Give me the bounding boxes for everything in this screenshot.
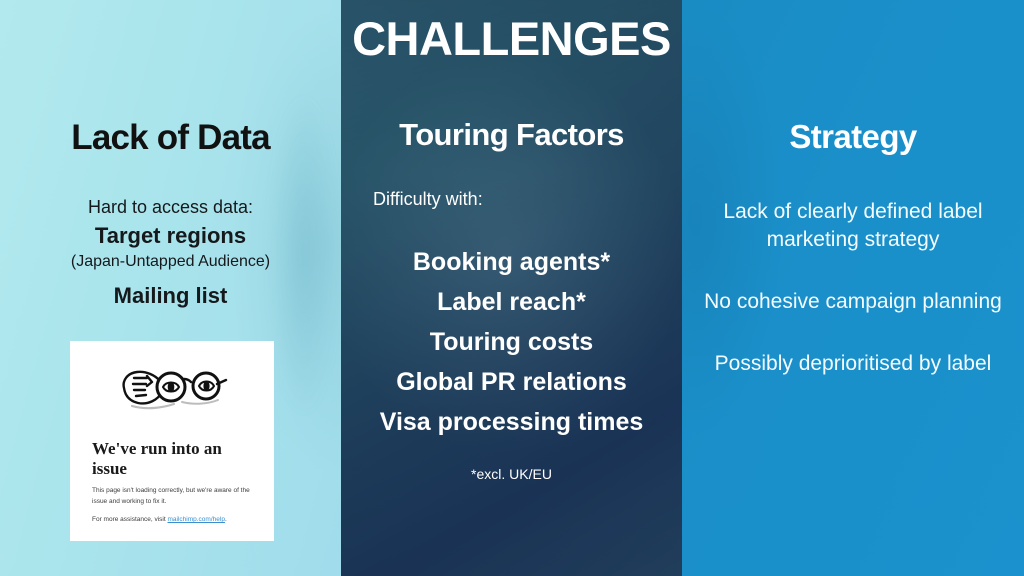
left-panel-point-1: Target regions — [14, 222, 327, 251]
right-panel-item-2: No cohesive campaign planning — [696, 288, 1010, 316]
mailchimp-error-card: We've run into an issue This page isn't … — [70, 341, 274, 541]
error-card-help-prefix: For more assistance, visit — [92, 516, 168, 523]
panel-lack-of-data: Lack of Data Hard to access data: Target… — [0, 0, 341, 576]
right-panel-item-1: Lack of clearly defined label marketing … — [696, 198, 1010, 254]
left-panel-lead: Hard to access data: — [14, 196, 327, 219]
mailchimp-help-link[interactable]: mailchimp.com/help — [168, 516, 225, 523]
error-card-body: This page isn't loading correctly, but w… — [92, 486, 252, 507]
list-item: Visa processing times — [355, 402, 668, 442]
right-panel-item-3: Possibly deprioritised by label — [696, 350, 1010, 378]
list-item: Booking agents* — [355, 242, 668, 282]
left-panel-point-2: Mailing list — [14, 282, 327, 311]
panel-touring-factors: Touring Factors Difficulty with: Booking… — [341, 0, 682, 576]
center-panel-list: Booking agents* Label reach* Touring cos… — [355, 242, 668, 442]
list-item: Global PR relations — [355, 362, 668, 402]
left-panel-point-1-note: (Japan-Untapped Audience) — [14, 252, 327, 273]
list-item: Label reach* — [355, 282, 668, 322]
center-panel-footnote: *excl. UK/EU — [355, 466, 668, 482]
page-title: CHALLENGES — [341, 14, 682, 63]
challenges-slide: Lack of Data Hard to access data: Target… — [0, 0, 1024, 576]
error-card-help-suffix: . — [225, 516, 227, 523]
error-card-title: We've run into an issue — [92, 439, 252, 478]
hand-holding-glasses-icon — [92, 361, 252, 415]
center-panel-lead: Difficulty with: — [355, 189, 668, 210]
panel-strategy: Strategy Lack of clearly defined label m… — [682, 0, 1024, 576]
center-panel-heading: Touring Factors — [355, 117, 668, 153]
right-panel-heading: Strategy — [696, 118, 1010, 156]
left-panel-heading: Lack of Data — [14, 118, 327, 158]
error-card-help: For more assistance, visit mailchimp.com… — [92, 515, 252, 525]
list-item: Touring costs — [355, 322, 668, 362]
